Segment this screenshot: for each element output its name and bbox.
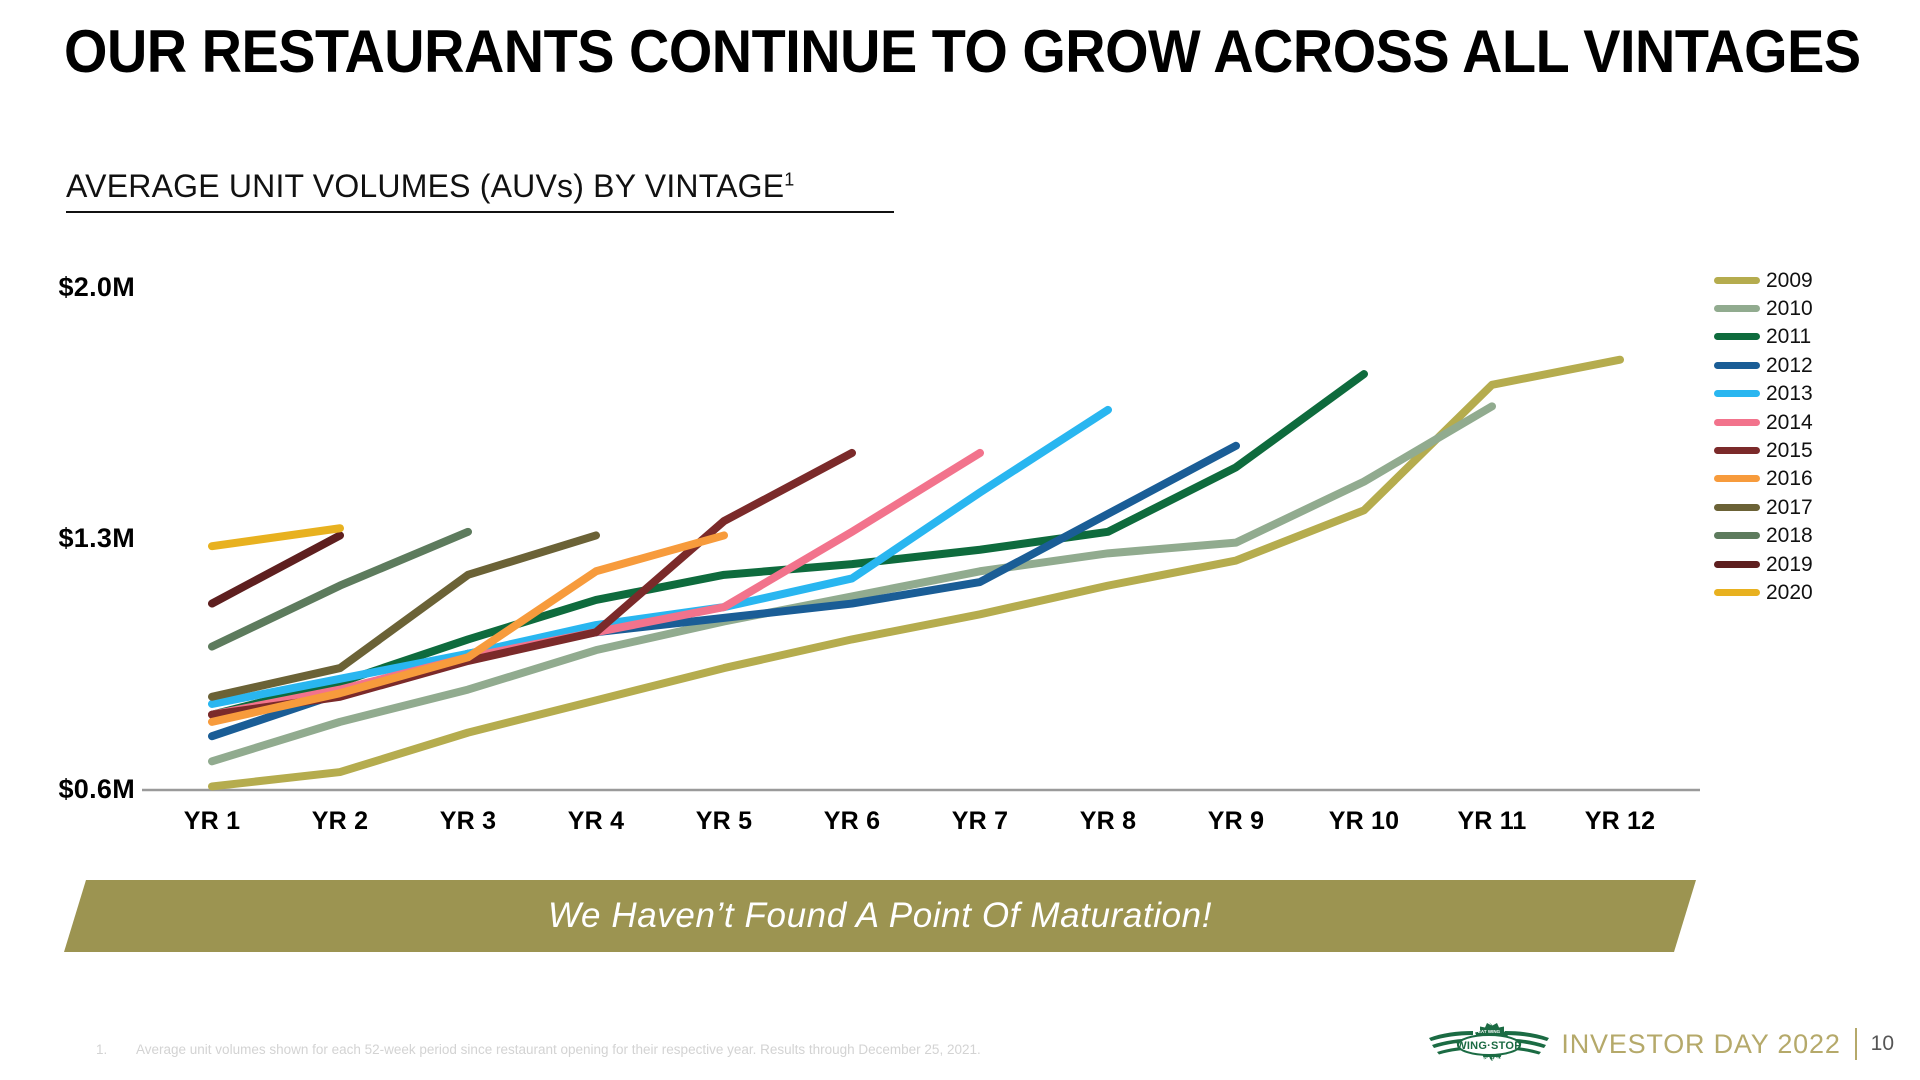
chart-line-2018 <box>212 532 468 647</box>
legend-item-label: 2013 <box>1766 383 1813 404</box>
chart-subtitle-text: AVERAGE UNIT VOLUMES (AUVs) BY VINTAGE <box>66 168 784 204</box>
legend-item-2010[interactable]: 2010 <box>1714 294 1894 322</box>
callout-banner-text: We Haven’t Found A Point Of Maturation! <box>64 880 1696 952</box>
x-axis-tick-label: YR 6 <box>792 807 912 836</box>
legend-item-2012[interactable]: 2012 <box>1714 351 1894 379</box>
legend-item-2016[interactable]: 2016 <box>1714 465 1894 493</box>
x-axis-tick-label: YR 3 <box>408 807 528 836</box>
y-axis-tick-label: $1.3M <box>5 523 135 554</box>
page-title: OUR RESTAURANTS CONTINUE TO GROW ACROSS … <box>64 16 1861 88</box>
page-number: 10 <box>1871 1032 1894 1056</box>
slide-root: OUR RESTAURANTS CONTINUE TO GROW ACROSS … <box>0 0 1920 1080</box>
x-axis-tick-label: YR 1 <box>152 807 272 836</box>
y-axis-tick-label: $2.0M <box>5 272 135 303</box>
chart-series-group <box>212 360 1620 787</box>
legend-item-2020[interactable]: 2020 <box>1714 578 1894 606</box>
legend-item-2018[interactable]: 2018 <box>1714 522 1894 550</box>
legend-swatch-icon <box>1714 447 1760 454</box>
svg-text:SINCE 1994: SINCE 1994 <box>1477 1056 1503 1061</box>
legend-swatch-icon <box>1714 561 1760 568</box>
x-axis-tick-label: YR 10 <box>1304 807 1424 836</box>
legend-item-label: 2020 <box>1766 582 1813 603</box>
x-axis-tick-label: YR 8 <box>1048 807 1168 836</box>
legend-item-label: 2019 <box>1766 554 1813 575</box>
legend-item-label: 2014 <box>1766 412 1813 433</box>
x-axis-tick-label: YR 9 <box>1176 807 1296 836</box>
legend-swatch-icon <box>1714 589 1760 596</box>
x-axis-tick-label: YR 2 <box>280 807 400 836</box>
legend-item-label: 2017 <box>1766 497 1813 518</box>
x-axis-tick-label: YR 5 <box>664 807 784 836</box>
legend-swatch-icon <box>1714 362 1760 369</box>
legend-item-label: 2011 <box>1766 326 1811 347</box>
legend-swatch-icon <box>1714 475 1760 482</box>
y-axis-tick-label: $0.6M <box>5 774 135 805</box>
chart-subtitle-underline <box>66 211 894 213</box>
legend-swatch-icon <box>1714 333 1760 340</box>
legend-swatch-icon <box>1714 532 1760 539</box>
legend-item-label: 2016 <box>1766 468 1813 489</box>
legend-item-label: 2009 <box>1766 270 1813 291</box>
brand-footer: WING·STOP EAT WING SINCE 1994 INVESTOR D… <box>1427 1018 1894 1070</box>
footnote: 1. Average unit volumes shown for each 5… <box>96 1042 981 1057</box>
chart-subtitle-superscript: 1 <box>784 169 794 189</box>
wingstop-logo-icon: WING·STOP EAT WING SINCE 1994 <box>1427 1018 1551 1070</box>
brand-divider <box>1855 1028 1857 1060</box>
svg-text:WING·STOP: WING·STOP <box>1457 1040 1523 1052</box>
legend-swatch-icon <box>1714 419 1760 426</box>
x-axis-tick-label: YR 12 <box>1560 807 1680 836</box>
legend-item-2009[interactable]: 2009 <box>1714 266 1894 294</box>
legend-swatch-icon <box>1714 305 1760 312</box>
legend-item-label: 2010 <box>1766 298 1813 319</box>
legend-item-label: 2015 <box>1766 440 1813 461</box>
chart-line-2009 <box>212 360 1620 787</box>
auv-line-chart: $2.0M$1.3M$0.6M YR 1YR 2YR 3YR 4YR 5YR 6… <box>0 235 1700 815</box>
chart-subtitle-block: AVERAGE UNIT VOLUMES (AUVs) BY VINTAGE1 <box>66 168 894 213</box>
legend-item-2015[interactable]: 2015 <box>1714 436 1894 464</box>
legend-item-2019[interactable]: 2019 <box>1714 550 1894 578</box>
brand-name: INVESTOR DAY 2022 <box>1561 1029 1840 1060</box>
chart-plot-area <box>0 235 1700 815</box>
chart-subtitle: AVERAGE UNIT VOLUMES (AUVs) BY VINTAGE1 <box>66 168 894 205</box>
legend-swatch-icon <box>1714 277 1760 284</box>
legend-item-2013[interactable]: 2013 <box>1714 380 1894 408</box>
legend-item-label: 2018 <box>1766 525 1813 546</box>
footnote-text: Average unit volumes shown for each 52-w… <box>136 1042 981 1057</box>
svg-text:EAT WING: EAT WING <box>1478 1029 1501 1034</box>
x-axis-tick-label: YR 4 <box>536 807 656 836</box>
chart-line-2014 <box>212 453 980 715</box>
legend-swatch-icon <box>1714 390 1760 397</box>
footnote-number: 1. <box>96 1042 136 1057</box>
legend-item-2011[interactable]: 2011 <box>1714 323 1894 351</box>
legend-item-2014[interactable]: 2014 <box>1714 408 1894 436</box>
chart-legend: 2009201020112012201320142015201620172018… <box>1714 266 1894 607</box>
legend-item-label: 2012 <box>1766 355 1813 376</box>
legend-item-2017[interactable]: 2017 <box>1714 493 1894 521</box>
legend-swatch-icon <box>1714 504 1760 511</box>
chart-line-2010 <box>212 406 1492 761</box>
x-axis-tick-label: YR 11 <box>1432 807 1552 836</box>
x-axis-tick-label: YR 7 <box>920 807 1040 836</box>
